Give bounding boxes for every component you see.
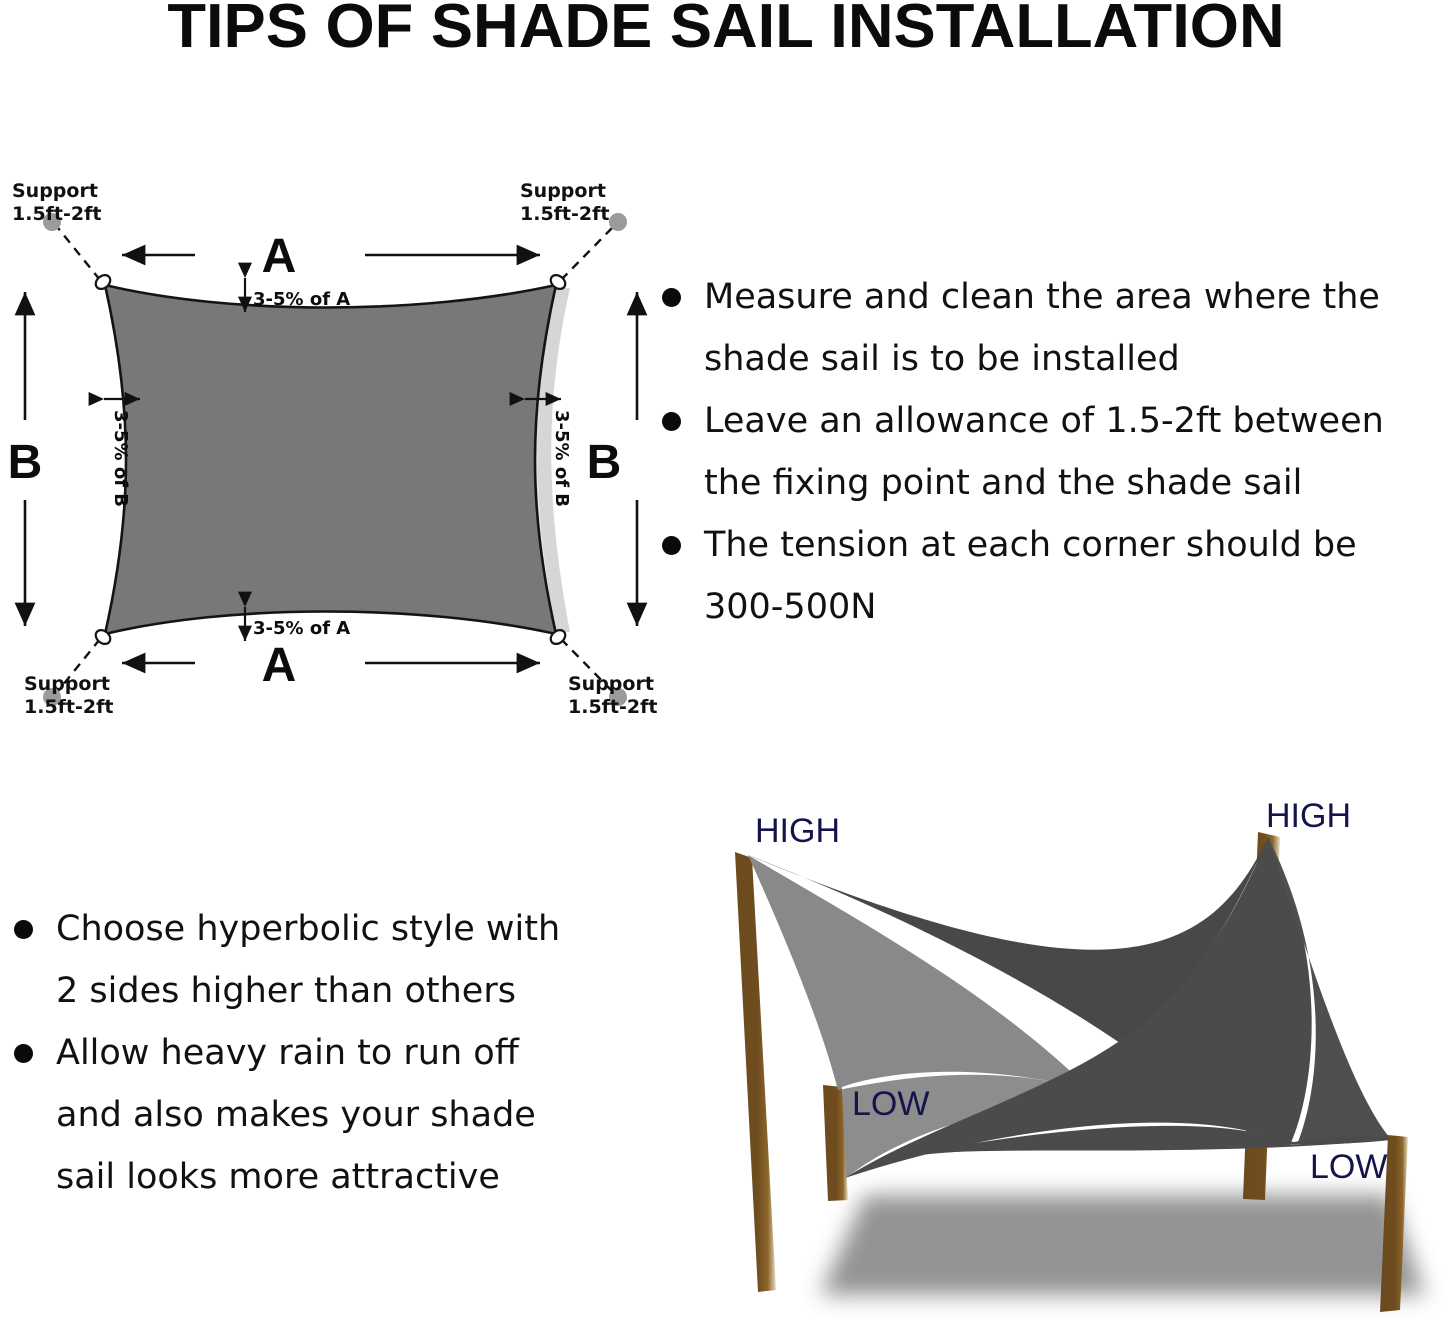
list-item: The tension at each corner should be 300… <box>648 514 1452 638</box>
dim-a-bottom-label: A <box>262 639 297 692</box>
label-low-right: LOW <box>1310 1148 1387 1186</box>
post-left-high <box>735 852 776 1292</box>
page-title: TIPS OF SHADE SAIL INSTALLATION <box>0 0 1452 58</box>
support-label-line2: 1.5ft-2ft <box>520 203 609 225</box>
bullet-dot-icon <box>662 288 681 307</box>
list-item: Choose hyperbolic style with 2 sides hig… <box>0 898 630 1022</box>
tip-line: shade sail is to be installed <box>704 328 1452 390</box>
support-dot-top-right <box>609 213 627 231</box>
bullet-dot-icon <box>662 536 681 555</box>
tip-line: the fixing point and the shade sail <box>704 452 1452 514</box>
label-high-right: HIGH <box>1266 797 1351 835</box>
style-line: Allow heavy rain to run off <box>56 1022 630 1084</box>
list-item: Allow heavy rain to run off and also mak… <box>0 1022 630 1208</box>
dim-b-right-label: B <box>587 436 622 489</box>
label-low-left: LOW <box>852 1085 929 1123</box>
tip-line: The tension at each corner should be <box>704 514 1452 576</box>
support-label-line1: Support <box>12 180 98 202</box>
support-label-line1: Support <box>520 180 606 202</box>
support-label-line2: 1.5ft-2ft <box>568 696 657 718</box>
tip-line: Leave an allowance of 1.5-2ft between <box>704 390 1452 452</box>
bullet-dot-icon <box>14 1044 33 1063</box>
support-label-line2: 1.5ft-2ft <box>24 696 113 718</box>
curve-a-top-label: 3-5% of A <box>253 289 350 310</box>
support-label-bottom-left: Support 1.5ft-2ft <box>24 673 113 719</box>
support-label-top-right: Support 1.5ft-2ft <box>520 180 609 226</box>
list-item: Leave an allowance of 1.5-2ft between th… <box>648 390 1452 514</box>
installation-tips-list: Measure and clean the area where the sha… <box>648 266 1452 638</box>
support-label-line1: Support <box>24 673 110 695</box>
tip-line: Measure and clean the area where the <box>704 266 1452 328</box>
list-item: Measure and clean the area where the sha… <box>648 266 1452 390</box>
style-line: and also makes your shade <box>56 1084 630 1146</box>
hyperbolic-sail-diagram: HIGH HIGH LOW LOW <box>690 790 1452 1325</box>
shade-sail-body <box>105 285 556 634</box>
curve-b-right-label: 3-5% of B <box>551 410 572 507</box>
dim-b-left-label: B <box>8 436 43 489</box>
curve-a-bottom-label: 3-5% of A <box>253 618 350 639</box>
ground-shadow <box>820 1195 1425 1295</box>
support-leader-top-right <box>561 228 612 280</box>
rectangular-sail-diagram: A 3-5% of A A 3-5% of A B 3-5% of B B 3-… <box>0 160 650 740</box>
curve-b-left-label: 3-5% of B <box>110 410 131 507</box>
style-line: Choose hyperbolic style with <box>56 898 630 960</box>
support-leader-top-left <box>58 228 100 280</box>
support-label-bottom-right: Support 1.5ft-2ft <box>568 673 657 719</box>
support-label-line2: 1.5ft-2ft <box>12 203 101 225</box>
style-line: sail looks more attractive <box>56 1146 630 1208</box>
hyperbolic-style-list: Choose hyperbolic style with 2 sides hig… <box>0 898 630 1208</box>
support-label-top-left: Support 1.5ft-2ft <box>12 180 101 226</box>
support-label-line1: Support <box>568 673 654 695</box>
style-line: 2 sides higher than others <box>56 960 630 1022</box>
label-high-left: HIGH <box>755 812 840 850</box>
tip-line: 300-500N <box>704 576 1452 638</box>
bullet-dot-icon <box>14 920 33 939</box>
dim-a-top-label: A <box>262 230 297 283</box>
bullet-dot-icon <box>662 412 681 431</box>
